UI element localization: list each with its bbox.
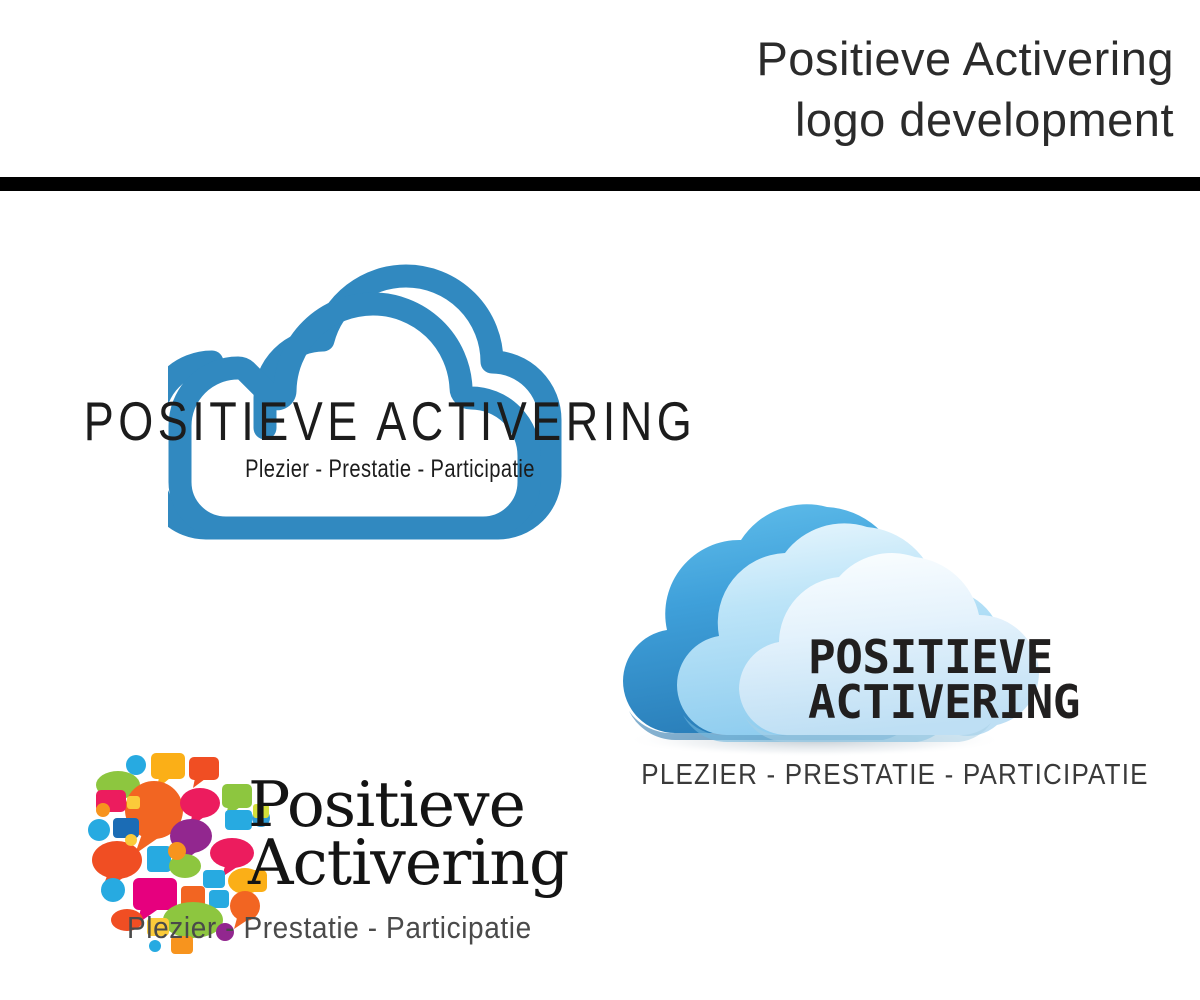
header: Positieve Activering logo development <box>0 0 1200 176</box>
speech-bubble-logo: Positieve Activering Plezier - Prestatie… <box>85 748 665 978</box>
three-d-cloud-logo: POSITIEVE ACTIVERING PLEZIER - PRESTATIE… <box>615 485 1195 815</box>
bubble-logo-tagline: Plezier - Prestatie - Participatie <box>127 911 627 946</box>
outline-logo-wordmark: POSITIEVE ACTIVERING <box>40 390 740 453</box>
header-divider <box>0 177 1200 191</box>
three-d-logo-tagline: PLEZIER - PRESTATIE - PARTICIPATIE <box>615 757 1175 792</box>
page-title-line-1: Positieve Activering <box>454 28 1174 89</box>
outline-logo-tagline: Plezier - Prestatie - Participatie <box>54 456 726 484</box>
three-d-logo-wordmark: POSITIEVE ACTIVERING <box>808 635 1198 725</box>
page-title: Positieve Activering logo development <box>454 28 1174 150</box>
poster-canvas: Positieve Activering logo development PO… <box>0 0 1200 1000</box>
page-title-line-2: logo development <box>454 89 1174 150</box>
bubble-wordmark-line-2: Activering <box>248 834 668 892</box>
bubble-logo-wordmark: Positieve Activering <box>248 776 668 892</box>
three-d-wordmark-line-2: ACTIVERING <box>808 680 1198 725</box>
